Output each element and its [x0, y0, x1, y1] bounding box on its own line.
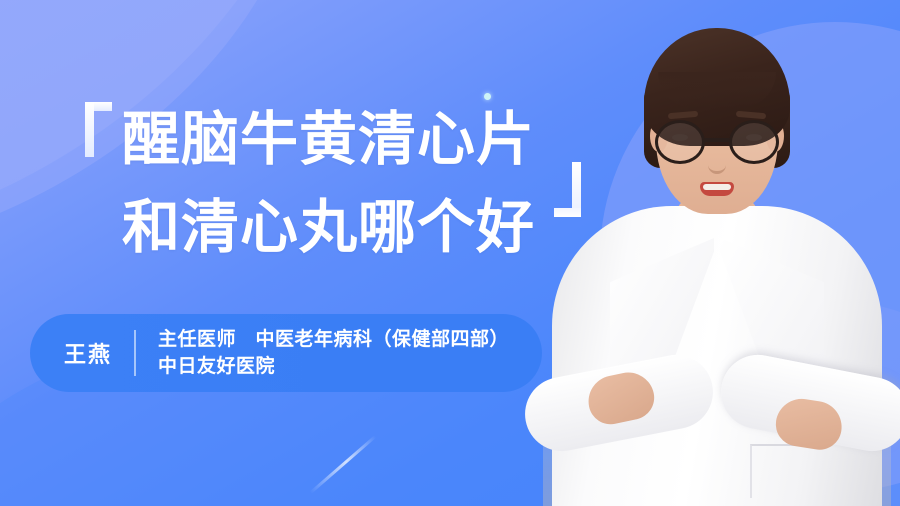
doctor-name: 王燕 — [64, 337, 112, 369]
doctor-credential-bar: 王燕 主任医师 中医老年病科（保健部四部） 中日友好医院 — [30, 314, 542, 392]
teeth — [703, 184, 731, 190]
headline-line-2: 和清心丸哪个好 — [84, 184, 604, 272]
doctor-hospital: 中日友好医院 — [158, 353, 509, 380]
glasses-bridge — [705, 138, 729, 142]
lens-right — [729, 120, 779, 164]
doctor-title-department: 主任医师 中医老年病科（保健部四部） — [158, 326, 509, 353]
mouth — [700, 182, 734, 196]
video-cover-card: 醒脑牛黄清心片 和清心丸哪个好 王燕 主任医师 中医老年病科（保健部四部） 中日… — [0, 0, 900, 506]
credential-text-block: 主任医师 中医老年病科（保健部四部） 中日友好医院 — [158, 326, 509, 380]
lens-left — [655, 120, 705, 164]
headline-block: 醒脑牛黄清心片 和清心丸哪个好 — [84, 96, 604, 272]
hair-bangs — [658, 72, 776, 108]
doctor-head — [642, 28, 792, 220]
coat-pocket — [750, 444, 828, 498]
quote-bracket-close-icon — [554, 162, 581, 217]
quote-bracket-open-icon — [85, 102, 112, 157]
nose — [708, 156, 726, 174]
headline-line-1: 醒脑牛黄清心片 — [84, 96, 604, 184]
credential-divider — [134, 330, 136, 376]
